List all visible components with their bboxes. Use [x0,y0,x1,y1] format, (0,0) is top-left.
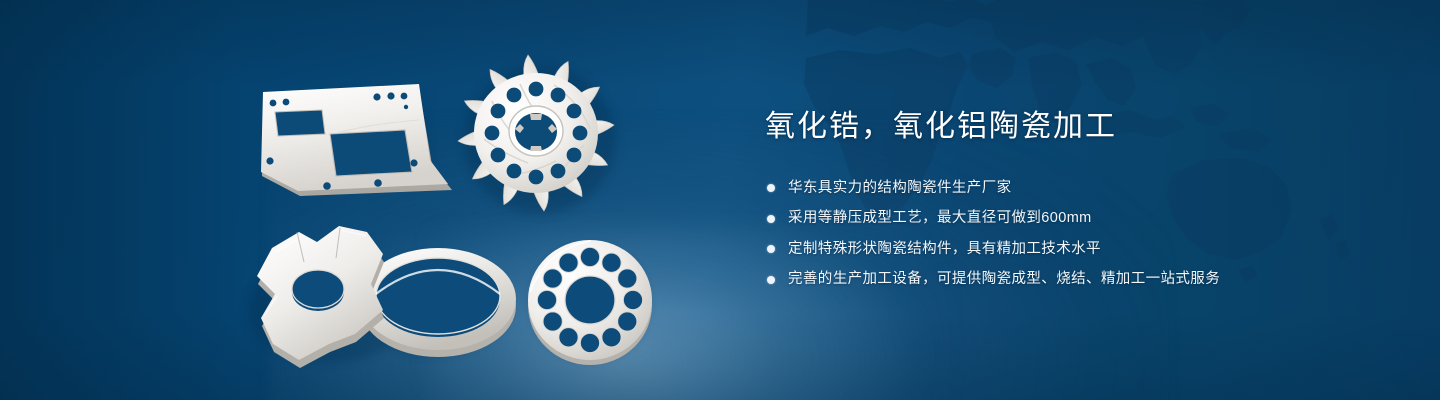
ceramic-holed-disc-part [528,240,652,365]
bullet-dot-icon [767,245,775,253]
ceramic-plate-part [261,84,452,196]
feature-list: 华东具实力的结构陶瓷件生产厂家 采用等静压成型工艺，最大直径可做到600mm 定… [767,179,1385,290]
banner-text-panel: 氧化锆，氧化铝陶瓷加工 华东具实力的结构陶瓷件生产厂家 采用等静压成型工艺，最大… [765,108,1385,290]
product-photo-group [0,0,720,400]
list-item-label: 华东具实力的结构陶瓷件生产厂家 [788,179,1012,199]
list-item: 采用等静压成型工艺，最大直径可做到600mm [767,209,1385,229]
list-item: 定制特殊形状陶瓷结构件，具有精加工技术水平 [767,240,1385,260]
list-item: 华东具实力的结构陶瓷件生产厂家 [767,179,1385,199]
list-item-label: 完善的生产加工设备，可提供陶瓷成型、烧结、精加工一站式服务 [788,270,1220,290]
list-item: 完善的生产加工设备，可提供陶瓷成型、烧结、精加工一站式服务 [767,270,1385,290]
bullet-dot-icon [767,276,775,284]
promo-banner: 氧化锆，氧化铝陶瓷加工 华东具实力的结构陶瓷件生产厂家 采用等静压成型工艺，最大… [0,0,1440,400]
ceramic-ring-part [360,248,516,357]
list-item-label: 定制特殊形状陶瓷结构件，具有精加工技术水平 [788,240,1101,260]
bullet-dot-icon [767,184,775,192]
bullet-dot-icon [767,215,775,223]
page-title: 氧化锆，氧化铝陶瓷加工 [765,108,1385,146]
list-item-label: 采用等静压成型工艺，最大直径可做到600mm [788,209,1092,229]
